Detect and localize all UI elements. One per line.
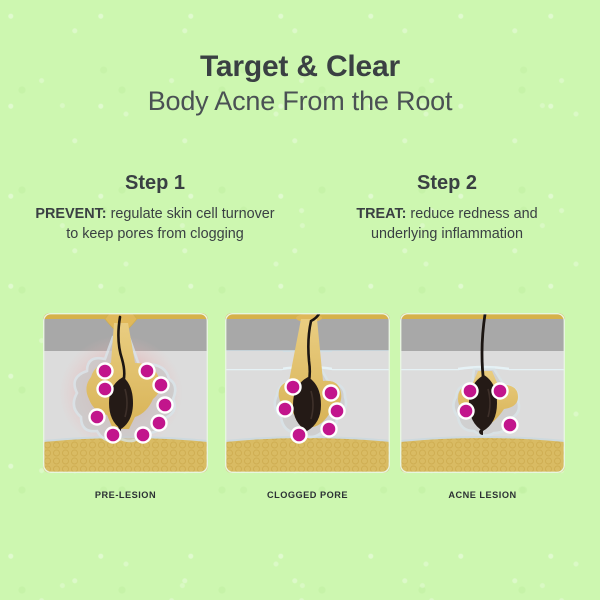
clogged-pore-panel xyxy=(225,313,390,473)
page-subtitle: Body Acne From the Root xyxy=(0,86,600,117)
pre-lesion-panel xyxy=(43,313,208,473)
steps-block: Step 1 PREVENT: regulate skin cell turno… xyxy=(0,172,600,245)
diagram-panels xyxy=(43,313,558,473)
step-2-body: TREAT: reduce redness and underlying inf… xyxy=(322,204,572,245)
step-1-title: Step 1 xyxy=(32,172,278,195)
caption-pre-lesion: PRE-LESION xyxy=(43,490,208,500)
step-2-title: Step 2 xyxy=(322,172,572,195)
step-1-body: PREVENT: regulate skin cell turnover to … xyxy=(32,204,278,245)
caption-acne-lesion: ACNE LESION xyxy=(400,490,565,500)
headline-block: Target & Clear Body Acne From the Root xyxy=(0,50,600,117)
caption-clogged-pore: CLOGGED PORE xyxy=(225,490,390,500)
step-2-lead: TREAT: xyxy=(356,206,406,222)
acne-lesion-panel xyxy=(400,313,565,473)
page-title: Target & Clear xyxy=(0,50,600,84)
step-2-column: Step 2 TREAT: reduce redness and underly… xyxy=(300,172,600,245)
step-1-column: Step 1 PREVENT: regulate skin cell turno… xyxy=(0,172,300,245)
step-1-lead: PREVENT: xyxy=(35,206,106,222)
